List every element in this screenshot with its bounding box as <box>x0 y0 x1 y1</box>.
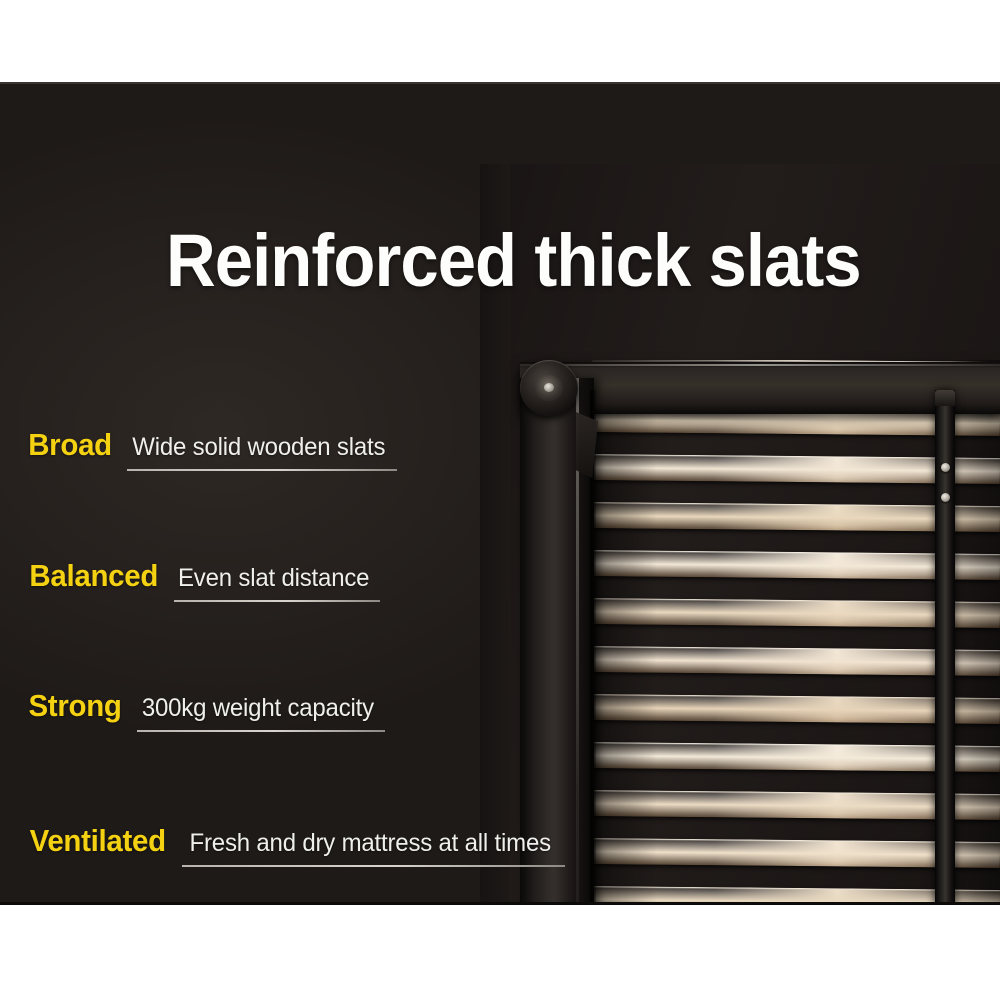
feature-underline <box>182 865 564 867</box>
feature-row: Ventilated Fresh and dry mattress at all… <box>26 823 559 867</box>
feature-description: Even slat distance <box>178 564 369 593</box>
feature-row: Balanced Even slat distance <box>26 558 374 602</box>
corner-bolt-screw-head <box>544 383 554 392</box>
page-title: Reinforced thick slats <box>166 222 861 300</box>
feature-row: Broad Wide solid wooden slats <box>26 427 391 471</box>
feature-description-wrap: 300kg weight capacity <box>137 694 379 732</box>
feature-keyword: Broad <box>28 427 112 463</box>
feature-row: Strong 300kg weight capacity <box>26 688 379 732</box>
feature-keyword: Strong <box>28 688 121 724</box>
feature-underline <box>127 469 397 471</box>
feature-description-wrap: Wide solid wooden slats <box>127 433 391 471</box>
feature-underline <box>137 730 385 732</box>
marketing-image: Reinforced thick slats Broad Wide solid … <box>0 0 1000 1000</box>
feature-keyword: Ventilated <box>30 823 166 859</box>
feature-description-wrap: Even slat distance <box>174 564 373 602</box>
frame-rail-top-highlight <box>520 364 1000 366</box>
center-support-cap <box>935 390 955 406</box>
center-support-screw-icon <box>941 463 950 472</box>
feature-keyword: Balanced <box>29 558 158 594</box>
dark-feature-panel: Reinforced thick slats Broad Wide solid … <box>0 82 1000 905</box>
feature-underline <box>174 600 379 602</box>
center-support-screw-icon <box>941 493 950 502</box>
feature-description: Fresh and dry mattress at all times <box>190 829 551 858</box>
feature-description-wrap: Fresh and dry mattress at all times <box>182 829 558 867</box>
feature-description: Wide solid wooden slats <box>132 433 385 462</box>
feature-description: 300kg weight capacity <box>142 694 374 723</box>
